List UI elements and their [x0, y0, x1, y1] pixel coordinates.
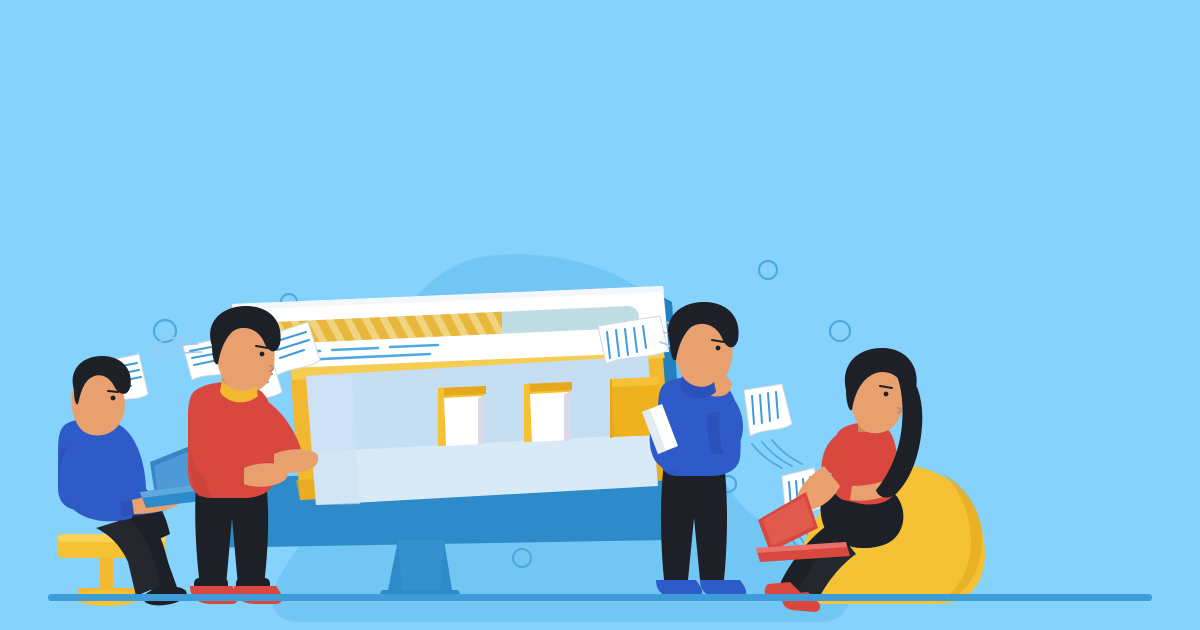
floor-line — [48, 594, 1152, 601]
banner-root: AI Data Visualization Tools | Find Impac… — [0, 0, 1200, 630]
hero-illustration — [0, 218, 1200, 630]
folder-open-icon — [524, 382, 572, 442]
screen-folders — [438, 377, 660, 446]
folder-open-icon — [438, 386, 486, 446]
